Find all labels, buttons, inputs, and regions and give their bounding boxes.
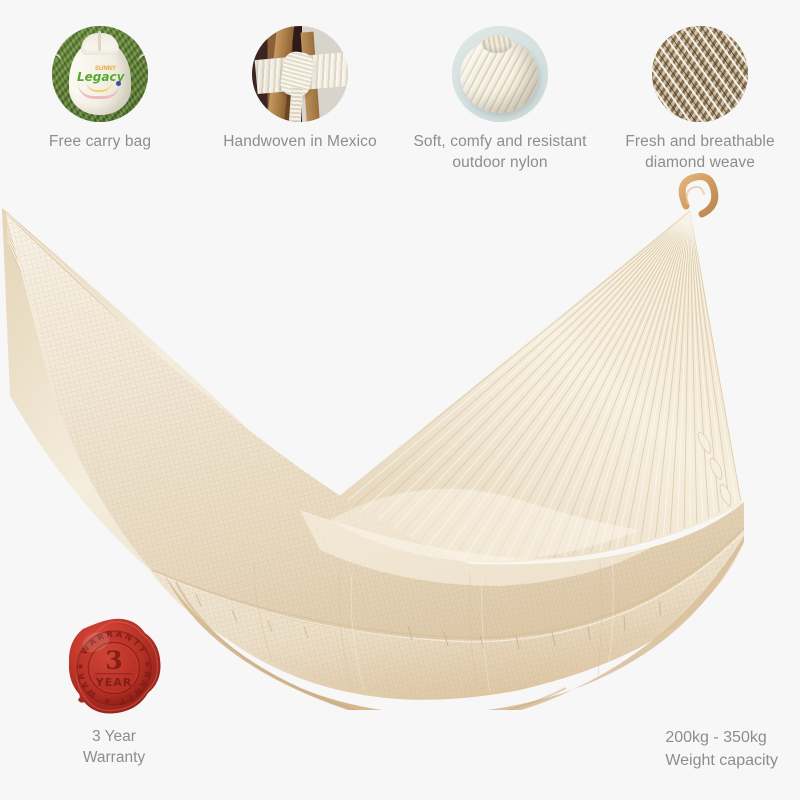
feature-item-diamond-weave: Fresh and breathable diamond weave — [600, 26, 800, 176]
logo-dot-icon — [116, 81, 121, 86]
seal-number: 3 — [105, 646, 122, 675]
weave-texture — [652, 26, 748, 122]
weight-capacity-label: Weight capacity — [665, 749, 778, 772]
hanging-loop-right — [682, 177, 715, 215]
handwoven-loom-photo-icon — [252, 26, 348, 122]
warranty-block: ★ WARRANTY ★ ★ WARRANTY ★ WARRANTY 3 YEA… — [34, 616, 194, 768]
twine-ball-shape — [460, 39, 538, 113]
carry-bag-photo-icon: SUNNY Legacy — [52, 26, 148, 122]
feature-label-nylon: Soft, comfy and resistant outdoor nylon — [408, 131, 593, 173]
product-feature-image: SUNNY Legacy Free carry bag Han — [0, 0, 800, 800]
feature-label-handwoven: Handwoven in Mexico — [223, 131, 377, 152]
feature-label-carry-bag: Free carry bag — [49, 131, 151, 152]
feature-item-nylon: Soft, comfy and resistant outdoor nylon — [400, 26, 600, 176]
nylon-twine-ball-photo-icon — [452, 26, 548, 122]
warranty-caption-line1: 3 Year — [83, 726, 145, 747]
cotton-sack-shape: SUNNY Legacy — [69, 41, 131, 115]
seal-unit: YEAR — [95, 676, 132, 689]
feature-item-handwoven: Handwoven in Mexico — [200, 26, 400, 176]
weight-capacity-range: 200kg - 350kg — [665, 726, 778, 749]
diamond-weave-macro-photo-icon — [652, 26, 748, 122]
feature-item-carry-bag: SUNNY Legacy Free carry bag — [0, 26, 200, 176]
logo-sub-text: SUNNY — [95, 66, 116, 72]
weight-capacity-block: 200kg - 350kg Weight capacity — [665, 726, 778, 772]
feature-label-diamond-weave: Fresh and breathable diamond weave — [608, 131, 793, 173]
loom-tail-icon — [289, 88, 303, 122]
wax-seal-icon: ★ WARRANTY ★ ★ WARRANTY ★ WARRANTY 3 YEA… — [62, 616, 166, 720]
wax-seal-badge: ★ WARRANTY ★ ★ WARRANTY ★ WARRANTY 3 YEA… — [62, 616, 166, 720]
sack-tie-icon — [98, 31, 101, 51]
brand-logo-print: SUNNY Legacy — [77, 71, 123, 97]
logo-swoosh-icon — [78, 83, 120, 99]
warranty-caption-line2: Warranty — [83, 747, 145, 768]
feature-strip: SUNNY Legacy Free carry bag Han — [0, 26, 800, 176]
warranty-caption: 3 Year Warranty — [83, 726, 145, 768]
